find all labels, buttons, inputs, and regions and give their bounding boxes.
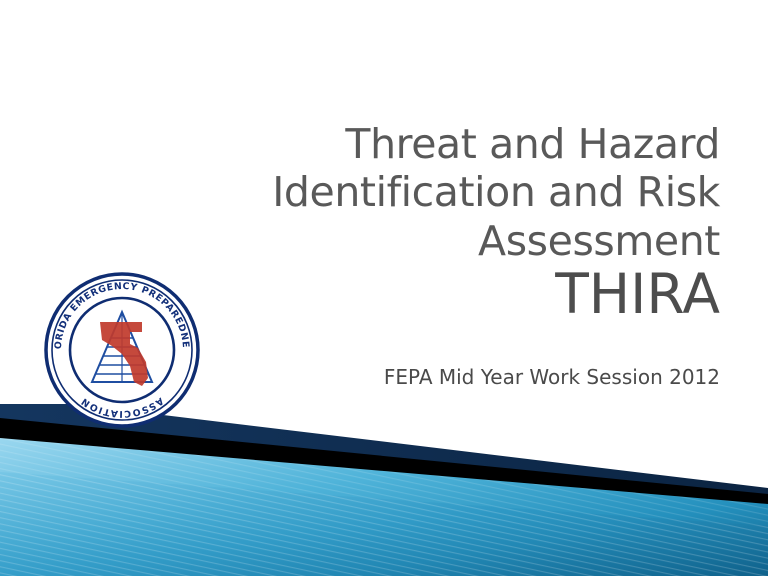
title-line-1: Threat and Hazard Identification and Ris… [100, 120, 720, 265]
title-text-line-1: Threat and Hazard [100, 120, 720, 168]
title-text-line-3: Assessment [100, 217, 720, 265]
presentation-slide: Threat and Hazard Identification and Ris… [0, 0, 768, 576]
title-text-line-2: Identification and Risk [100, 168, 720, 216]
fepa-logo: FLORIDA EMERGENCY PREPAREDNESS ASSOCIATI… [42, 270, 202, 430]
